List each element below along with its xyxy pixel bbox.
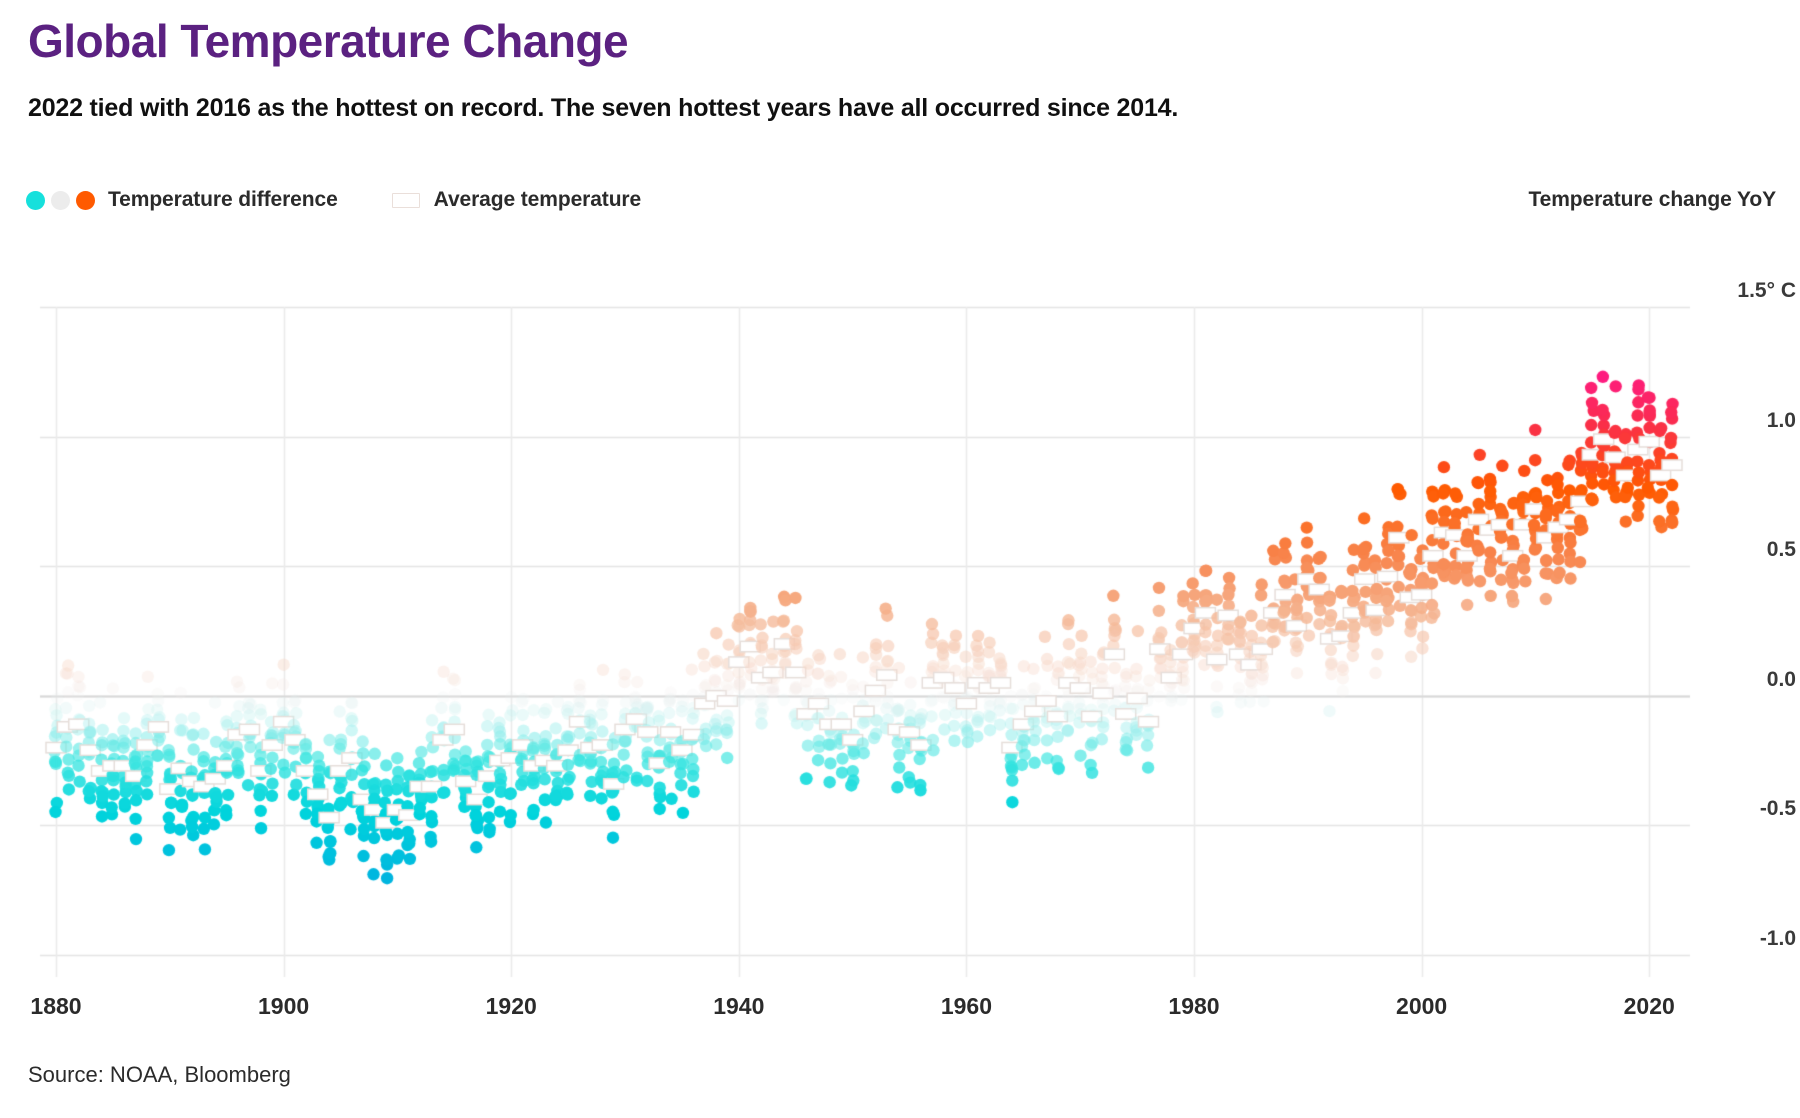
x-axis-tick-1920: 1920 — [477, 993, 545, 1020]
x-axis-tick-2000: 2000 — [1388, 993, 1456, 1020]
x-axis-tick-1900: 1900 — [250, 993, 318, 1020]
scatter-plot-canvas — [0, 0, 1800, 1118]
y-axis-tick-15C: 1.5° C — [1700, 279, 1796, 303]
y-axis-tick-10: 1.0 — [1700, 409, 1796, 433]
x-axis-tick-1980: 1980 — [1160, 993, 1228, 1020]
y-axis-tick-00: 0.0 — [1700, 668, 1796, 692]
x-axis-tick-2020: 2020 — [1615, 993, 1683, 1020]
x-axis-tick-1940: 1940 — [705, 993, 773, 1020]
plot-area[interactable]: -1.0-0.50.00.51.01.5° C 1880190019201940… — [0, 0, 1800, 1118]
y-axis-tick--05: -0.5 — [1700, 797, 1796, 821]
x-axis-tick-1880: 1880 — [22, 993, 90, 1020]
chart-page: Global Temperature Change 2022 tied with… — [0, 0, 1800, 1118]
y-axis-tick-05: 0.5 — [1700, 538, 1796, 562]
source-note: Source: NOAA, Bloomberg — [28, 1062, 291, 1088]
x-axis-tick-1960: 1960 — [932, 993, 1000, 1020]
y-axis-tick--10: -1.0 — [1700, 927, 1796, 951]
